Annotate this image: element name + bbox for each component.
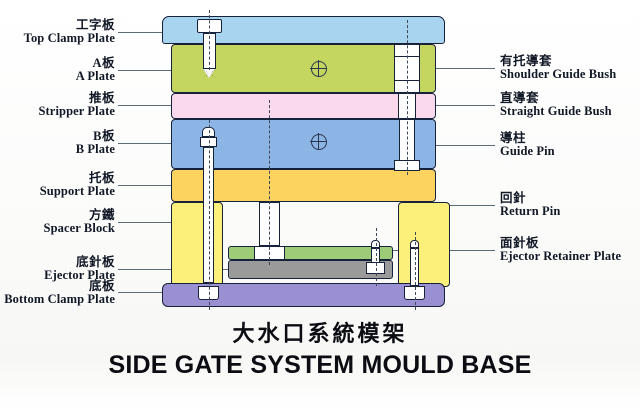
diagram-title: 大水口系統模架 SIDE GATE SYSTEM MOULD BASE [0,316,640,380]
centerline-ko-screw [415,232,416,310]
diagram-title-cn: 大水口系統模架 [0,316,640,348]
centerline-support-pillar [269,100,270,265]
centerline-ejector-pin [209,120,210,310]
locating-target-cross-a-v [318,60,319,76]
leader-line-straight-guide-bush [427,105,495,106]
label-return-pin: 回針 Return Pin [500,192,560,218]
label-b-plate-en: B Plate [76,143,115,156]
label-spacer-block-en: Spacer Block [44,222,115,235]
label-top-clamp-plate: 工字板 Top Clamp Plate [24,19,115,45]
label-shoulder-guide-bush: 有托導套 Shoulder Guide Bush [500,55,616,81]
label-a-plate: A板 A Plate [76,57,115,83]
label-top-clamp-plate-en: Top Clamp Plate [24,32,115,45]
label-support-plate: 托板 Support Plate [40,172,115,198]
label-straight-guide-bush: 直導套 Straight Guide Bush [500,92,612,118]
diagram-canvas: 工字板 Top Clamp Plate A板 A Plate 推板 Stripp… [0,0,640,410]
label-a-plate-en: A Plate [76,70,115,83]
label-ejector-retainer-plate-en: Ejector Retainer Plate [500,250,621,263]
part-ejector-retainer-plate [228,246,393,260]
label-bottom-clamp-plate: 底板 Bottom Clamp Plate [4,280,115,306]
label-stripper-plate-en: Stripper Plate [38,105,115,118]
locating-target-cross-b-v [318,133,319,149]
label-ejector-retainer-plate: 面針板 Ejector Retainer Plate [500,237,621,263]
label-guide-pin-en: Guide Pin [500,145,555,158]
label-support-plate-en: Support Plate [40,185,115,198]
label-stripper-plate: 推板 Stripper Plate [38,92,115,118]
socket-head-cap-screw-tip-outline [203,69,216,78]
centerline-sprue [209,10,210,70]
diagram-title-en: SIDE GATE SYSTEM MOULD BASE [0,351,640,380]
part-stripper-plate [171,93,436,119]
label-spacer-block: 方鐵 Spacer Block [44,209,115,235]
locating-target-mark-b-plate [311,134,327,150]
label-shoulder-guide-bush-en: Shoulder Guide Bush [500,68,616,81]
part-spacer-block-right [398,202,450,287]
locating-target-mark-a-plate [311,61,327,77]
label-guide-pin: 導柱 Guide Pin [500,132,555,158]
label-return-pin-en: Return Pin [500,205,560,218]
part-spacer-block-left [171,202,223,287]
label-b-plate: B板 B Plate [76,130,115,156]
centerline-guide-pin [407,20,408,175]
centerline-return-pin [376,228,377,286]
leader-line-guide-pin [434,145,495,146]
label-bottom-clamp-plate-en: Bottom Clamp Plate [4,293,115,306]
leader-line-shoulder-guide-bush [427,68,495,69]
label-straight-guide-bush-en: Straight Guide Bush [500,105,612,118]
